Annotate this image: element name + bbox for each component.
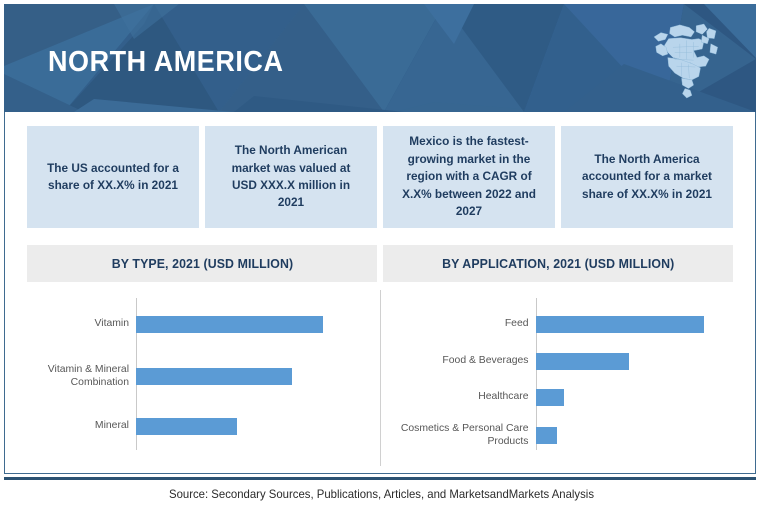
bar: [536, 316, 704, 333]
bar-category-label: Mineral: [5, 420, 136, 433]
chart-header-by-type-label: BY TYPE, 2021 (USD MILLION): [111, 256, 292, 271]
bar-category-label: Healthcare: [381, 391, 536, 404]
chart-by-application: FeedFood & BeveragesHealthcareCosmetics …: [380, 290, 756, 466]
callout-row: The US accounted for a share of XX.X% in…: [5, 126, 755, 228]
chart-by-application-bars: FeedFood & BeveragesHealthcareCosmetics …: [381, 298, 756, 450]
callout-box-1: The US accounted for a share of XX.X% in…: [27, 126, 199, 228]
north-america-map-icon: [642, 18, 728, 104]
bar: [536, 389, 564, 406]
source-note: Source: Secondary Sources, Publications,…: [8, 488, 756, 501]
charts-area: VitaminVitamin & Mineral CombinationMine…: [5, 290, 755, 466]
slide-root: NORTH AMERICA: [0, 0, 763, 517]
header-banner: NORTH AMERICA: [4, 4, 756, 112]
bar-row: Vitamin & Mineral Combination: [5, 364, 380, 389]
bar: [136, 368, 292, 385]
footer-rule: [4, 477, 756, 480]
bar: [136, 418, 237, 435]
bar-category-label: Cosmetics & Personal Care Products: [381, 423, 536, 448]
chart-header-by-type: BY TYPE, 2021 (USD MILLION): [27, 245, 377, 282]
bar-category-label: Vitamin: [5, 318, 136, 331]
bar: [536, 353, 629, 370]
callout-box-2: The North American market was valued at …: [205, 126, 377, 228]
bar-category-label: Food & Beverages: [381, 355, 536, 368]
bar-category-label: Vitamin & Mineral Combination: [5, 364, 136, 389]
callout-text-4: The North America accounted for a market…: [574, 151, 720, 203]
bar-row: Food & Beverages: [381, 353, 756, 370]
bar-row: Cosmetics & Personal Care Products: [381, 423, 756, 448]
callout-box-3: Mexico is the fastest-growing market in …: [383, 126, 555, 228]
chart-by-type-bars: VitaminVitamin & Mineral CombinationMine…: [5, 298, 380, 450]
bar: [536, 427, 557, 444]
bar-row: Mineral: [5, 418, 380, 435]
chart-by-type: VitaminVitamin & Mineral CombinationMine…: [5, 290, 380, 466]
chart-by-type-plot: VitaminVitamin & Mineral CombinationMine…: [5, 298, 380, 450]
callout-box-4: The North America accounted for a market…: [561, 126, 733, 228]
callout-text-3: Mexico is the fastest-growing market in …: [396, 133, 542, 220]
chart-header-row: BY TYPE, 2021 (USD MILLION) BY APPLICATI…: [5, 245, 755, 282]
page-title: NORTH AMERICA: [48, 48, 283, 77]
bar-category-label: Feed: [381, 318, 536, 331]
callout-text-1: The US accounted for a share of XX.X% in…: [40, 160, 186, 195]
bar-row: Healthcare: [381, 389, 756, 406]
bar-row: Feed: [381, 316, 756, 333]
bar: [136, 316, 323, 333]
chart-header-by-application: BY APPLICATION, 2021 (USD MILLION): [383, 245, 733, 282]
chart-by-application-plot: FeedFood & BeveragesHealthcareCosmetics …: [381, 298, 756, 450]
content-frame: The US accounted for a share of XX.X% in…: [4, 112, 756, 474]
chart-header-by-application-label: BY APPLICATION, 2021 (USD MILLION): [442, 256, 674, 271]
bar-row: Vitamin: [5, 316, 380, 333]
callout-text-2: The North American market was valued at …: [218, 142, 364, 212]
